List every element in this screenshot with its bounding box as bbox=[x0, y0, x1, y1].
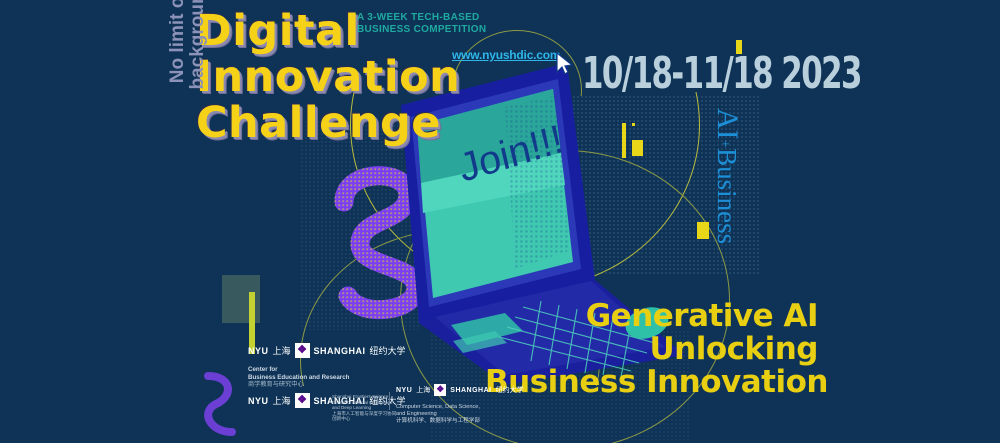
frontiers-en: Shanghai Frontiers Science Center of Art… bbox=[332, 394, 398, 411]
dept-cn: 计算机科学、数据科学与工程学部 bbox=[396, 418, 501, 425]
logo-cn-left: 上海 bbox=[273, 394, 291, 407]
title-line-3: Challenge bbox=[196, 100, 526, 146]
website-url[interactable]: www.nyushdic.com bbox=[452, 48, 560, 62]
event-dates: 10/18-11/18 2023 bbox=[582, 52, 861, 96]
logo-nyu-text: NYU bbox=[248, 346, 269, 356]
center-name-block: Center for Business Education and Resear… bbox=[248, 366, 358, 389]
logo-cn-left: 上海 bbox=[416, 385, 430, 395]
dept-en-1: Computer Science, Data Science, bbox=[396, 404, 501, 411]
logo-cn-left: 上海 bbox=[273, 344, 291, 357]
squiggle-decoration-small bbox=[198, 370, 244, 440]
nyu-shanghai-logo-tertiary: NYU 上海 ❖ SHANGHAI 纽约大学 bbox=[396, 384, 524, 396]
logo-cn-right: 纽约大学 bbox=[370, 344, 406, 357]
department-block: Computer Science, Data Science, and Engi… bbox=[396, 404, 501, 424]
plus-sign: + bbox=[717, 140, 733, 148]
torch-glyph: ❖ bbox=[434, 385, 446, 394]
logo-nyu-text: NYU bbox=[396, 387, 412, 394]
logo-shanghai-text: SHANGHAI bbox=[450, 387, 491, 394]
no-limit-line-1: No limit on major bbox=[168, 0, 188, 158]
poster-canvas: Join!!! Digital Innovation Challenge A 3… bbox=[0, 0, 1000, 443]
headline-line-2: Unlocking bbox=[468, 333, 818, 366]
torch-glyph: ❖ bbox=[295, 395, 310, 406]
tagline-line-2: BUSINESS COMPETITION bbox=[357, 24, 507, 36]
center-name-en-1: Center for bbox=[248, 366, 358, 374]
nyu-torch-icon: ❖ bbox=[295, 343, 310, 358]
logo-shanghai-text: SHANGHAI bbox=[314, 346, 366, 356]
frontiers-center-block: Shanghai Frontiers Science Center of Art… bbox=[332, 394, 398, 422]
business-label: Business bbox=[712, 148, 742, 244]
ai-plus-business: AI+Business bbox=[710, 108, 742, 244]
accent-square-2 bbox=[697, 222, 709, 239]
logo-cn-right: 纽约大学 bbox=[496, 385, 524, 395]
ai-label: AI bbox=[711, 108, 744, 140]
no-limit-note: No limit on major background/ level bbox=[168, 0, 208, 158]
mouse-cursor-icon bbox=[556, 52, 574, 76]
tagline-line-1: A 3-WEEK TECH-BASED bbox=[357, 12, 507, 24]
torch-glyph: ❖ bbox=[295, 345, 310, 356]
center-name-cn: 商学教育与研究中心 bbox=[248, 381, 358, 389]
nyu-torch-icon: ❖ bbox=[434, 384, 446, 396]
tagline: A 3-WEEK TECH-BASED BUSINESS COMPETITION bbox=[357, 12, 507, 36]
no-limit-line-2: background/ level bbox=[188, 0, 208, 158]
nyu-shanghai-logo-primary: NYU 上海 ❖ SHANGHAI 纽约大学 bbox=[248, 343, 406, 358]
nyu-torch-icon: ❖ bbox=[295, 393, 310, 408]
frontiers-cn: 上海市人工智能与深度学习协同创新中心 bbox=[332, 411, 398, 422]
logo-nyu-text: NYU bbox=[248, 396, 269, 406]
dept-en-2: and Engineering bbox=[396, 411, 501, 418]
headline-line-1: Generative AI bbox=[468, 300, 818, 333]
